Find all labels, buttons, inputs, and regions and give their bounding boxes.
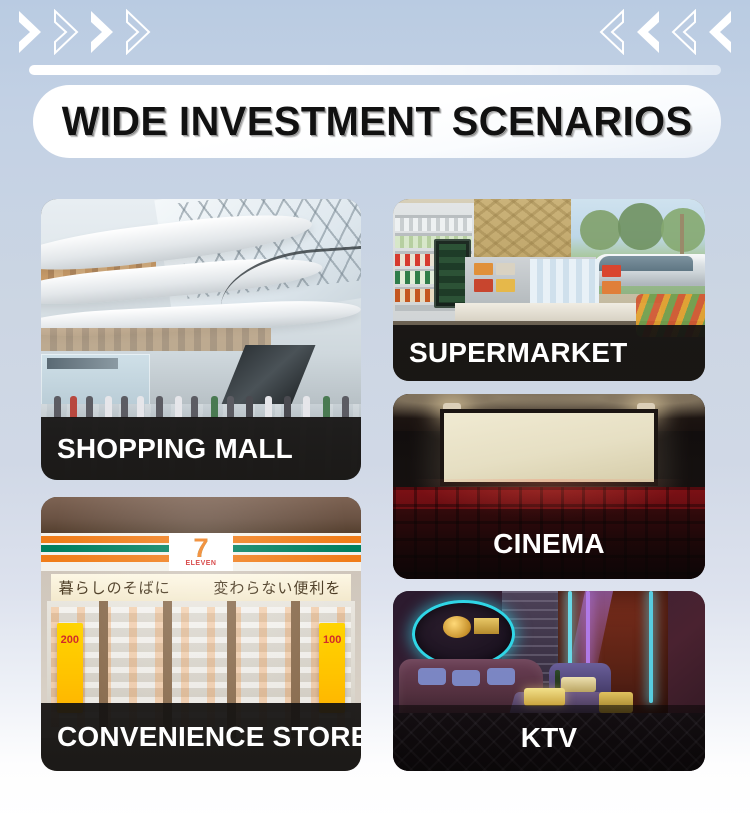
card-label-band: CINEMA [393,509,705,579]
card-label-band: SUPERMARKET [393,325,705,381]
card-label: CINEMA [393,528,705,560]
scenario-card-shopping-mall[interactable]: SHOPPING MALL [41,199,361,480]
scenario-card-ktv[interactable]: KTV [393,591,705,771]
scenario-card-cinema[interactable]: CINEMA [393,394,705,579]
card-label-band: KTV [393,705,705,771]
card-label: KTV [393,722,705,754]
scenario-card-convenience-store[interactable]: 7 ELEVEN 暮らしのそばに 変わらない便利を 200 100 CONVEN… [41,497,361,771]
card-label: SUPERMARKET [393,337,627,369]
card-label-band: SHOPPING MALL [41,417,361,480]
card-label: CONVENIENCE STORE [41,721,361,753]
scenario-card-supermarket[interactable]: SUPERMARKET [393,199,705,381]
card-label: SHOPPING MALL [41,433,293,465]
card-label-band: CONVENIENCE STORE [41,703,361,771]
scenario-card-grid: SHOPPING MALL [0,0,750,822]
